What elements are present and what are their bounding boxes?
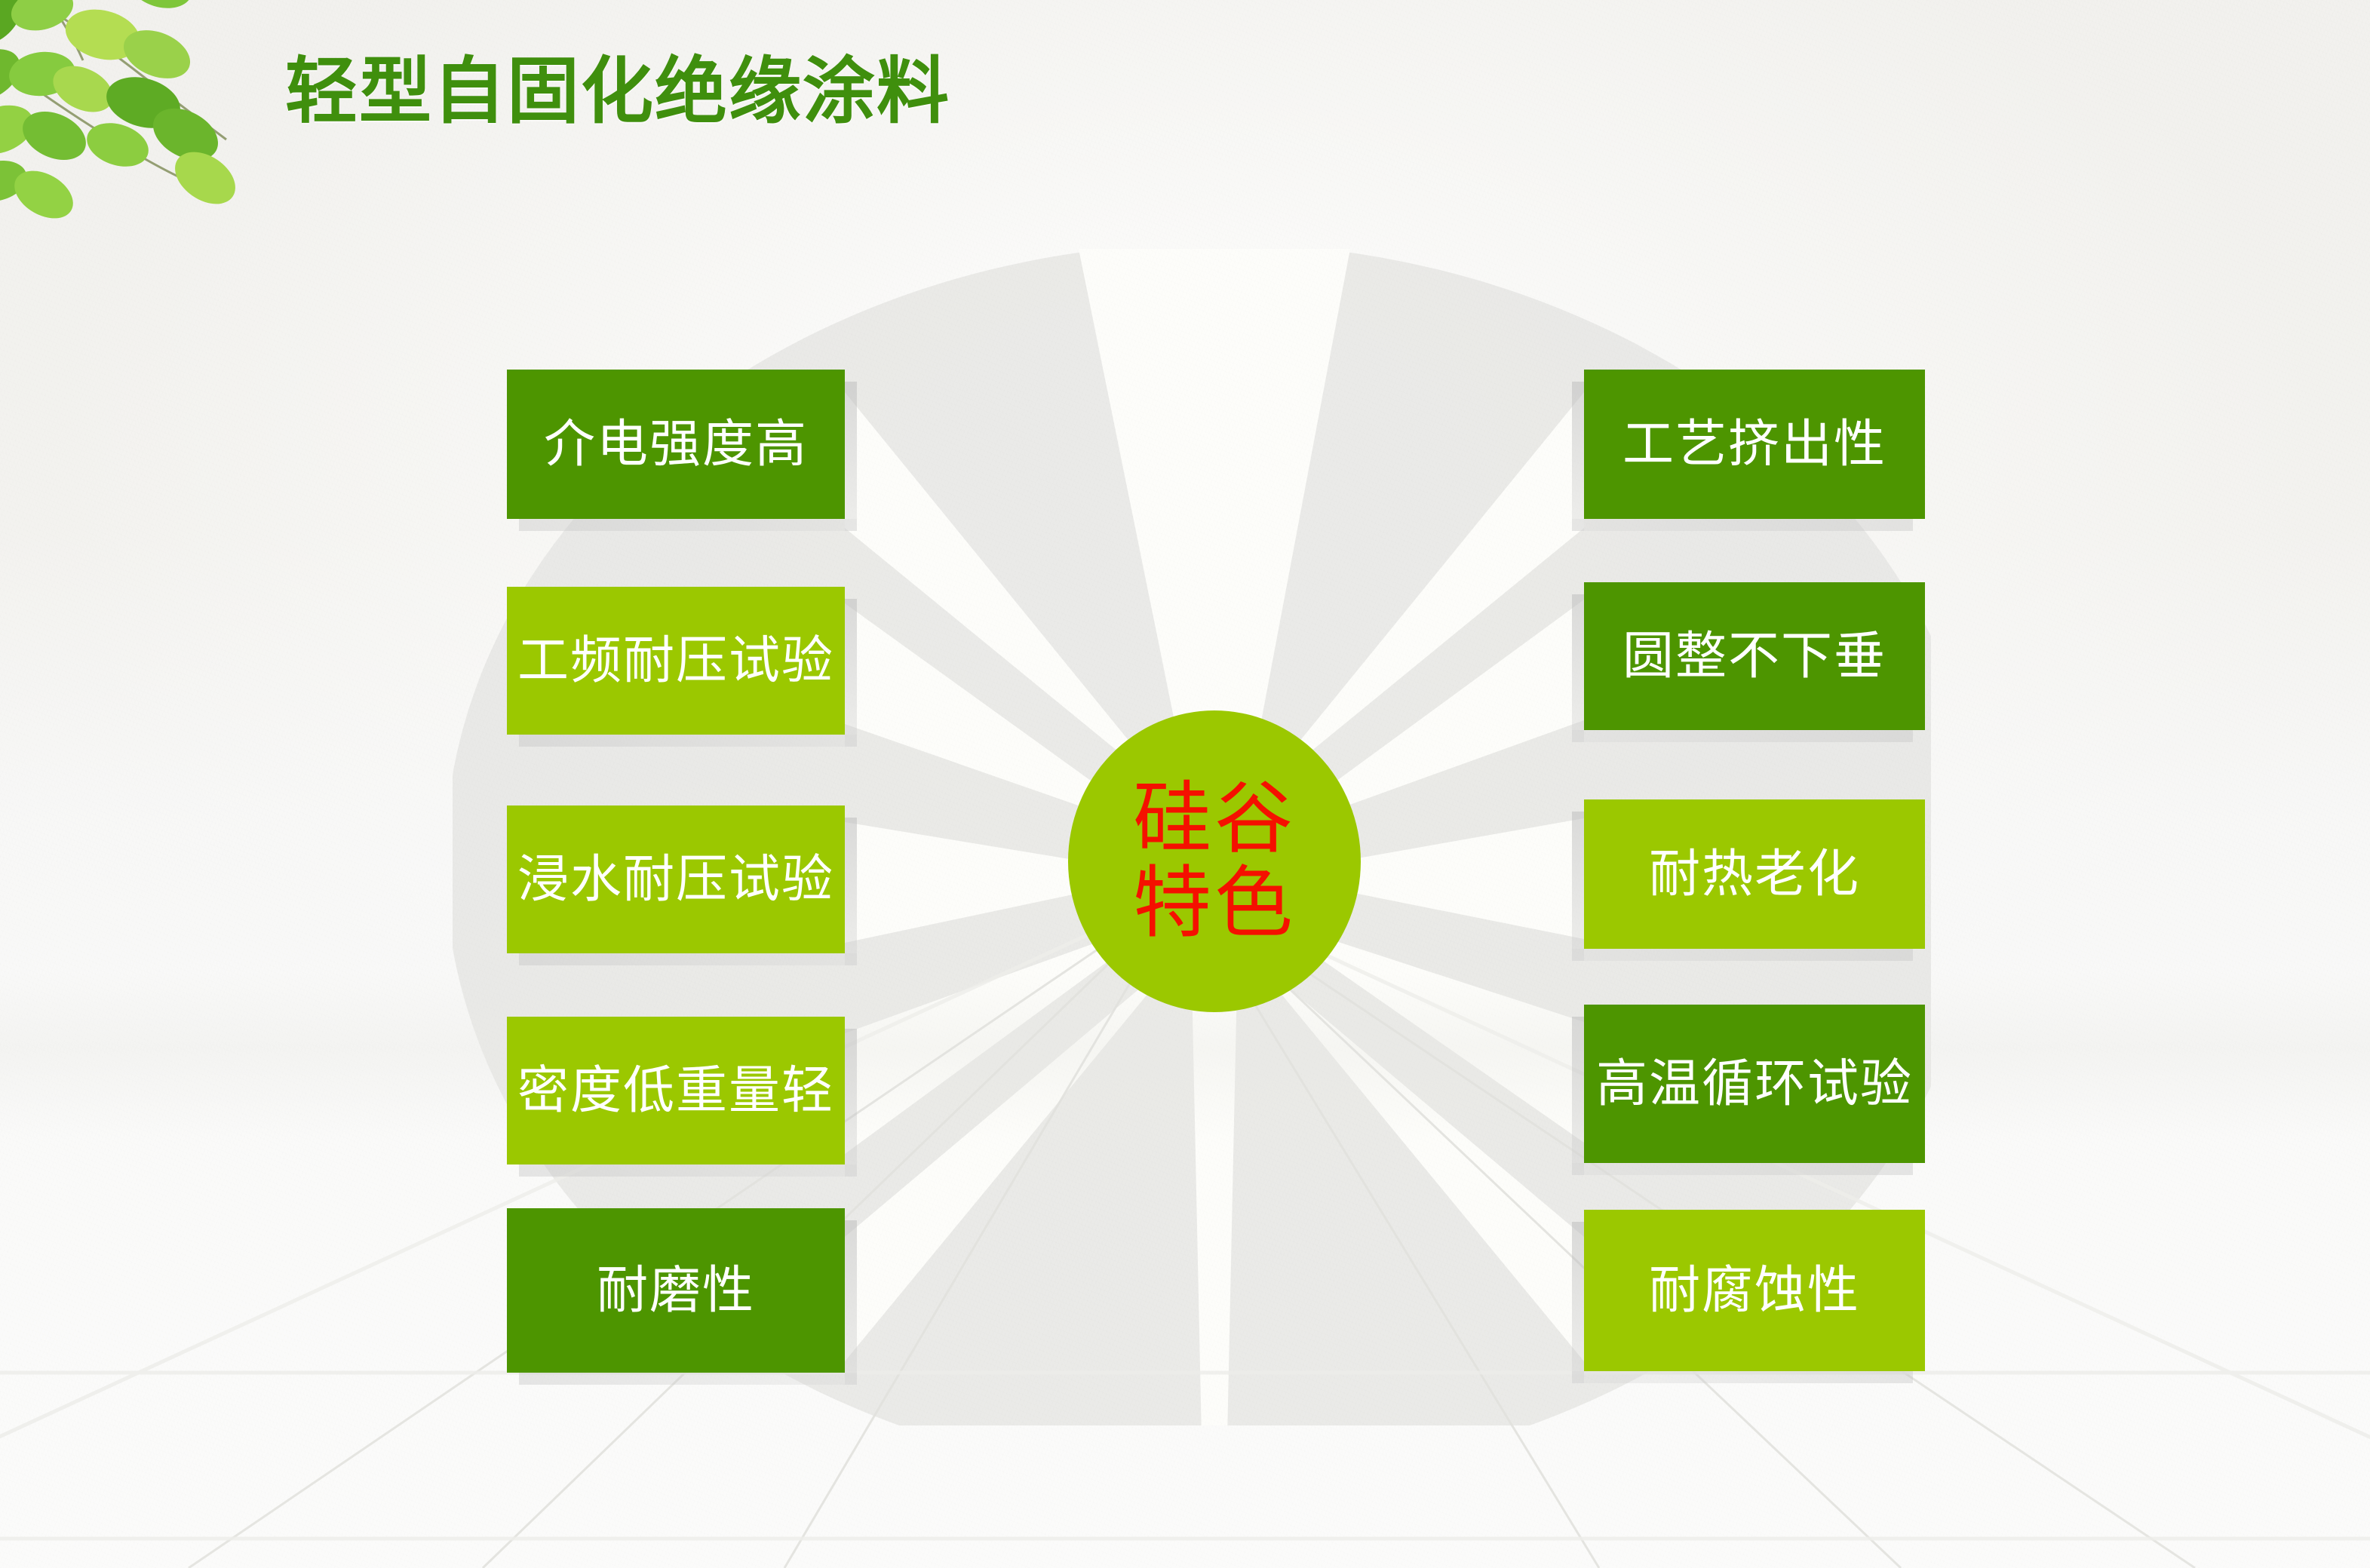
feature-box-right-1[interactable]: 工艺挤出性	[1584, 370, 1925, 519]
feature-label: 工艺挤出性	[1622, 419, 1886, 470]
center-hub[interactable]: 硅谷 特色	[1068, 710, 1361, 1012]
feature-label: 介电强度高	[544, 419, 808, 470]
feature-box-left-1[interactable]: 介电强度高	[507, 370, 845, 519]
feature-box-right-4[interactable]: 高温循环试验	[1584, 1005, 1925, 1163]
feature-label: 耐热老化	[1649, 848, 1860, 900]
feature-box-right-2[interactable]: 圆整不下垂	[1584, 582, 1925, 730]
feature-label: 耐腐蚀性	[1649, 1265, 1860, 1316]
feature-label: 密度低重量轻	[517, 1065, 834, 1116]
feature-label: 浸水耐压试验	[517, 854, 834, 905]
feature-box-right-5[interactable]: 耐腐蚀性	[1584, 1210, 1925, 1371]
feature-box-right-3[interactable]: 耐热老化	[1584, 799, 1925, 949]
feature-label: 工频耐压试验	[517, 635, 834, 686]
feature-box-left-3[interactable]: 浸水耐压试验	[507, 805, 845, 953]
feature-label: 高温循环试验	[1596, 1058, 1913, 1109]
hub-line-1: 硅谷	[1133, 777, 1296, 861]
feature-label: 圆整不下垂	[1622, 631, 1886, 682]
feature-box-left-2[interactable]: 工频耐压试验	[507, 587, 845, 735]
page-title: 轻型自固化绝缘涂料	[285, 54, 950, 130]
hub-line-2: 特色	[1133, 861, 1296, 946]
leaf-branch-icon	[0, 0, 317, 256]
feature-label: 耐磨性	[597, 1265, 755, 1316]
slide-canvas: 轻型自固化绝缘涂料 介电强度高 工频耐压试验 浸水耐压试验 密度低重量轻 耐磨性…	[0, 0, 2370, 1568]
feature-box-left-5[interactable]: 耐磨性	[507, 1208, 845, 1373]
feature-box-left-4[interactable]: 密度低重量轻	[507, 1017, 845, 1164]
